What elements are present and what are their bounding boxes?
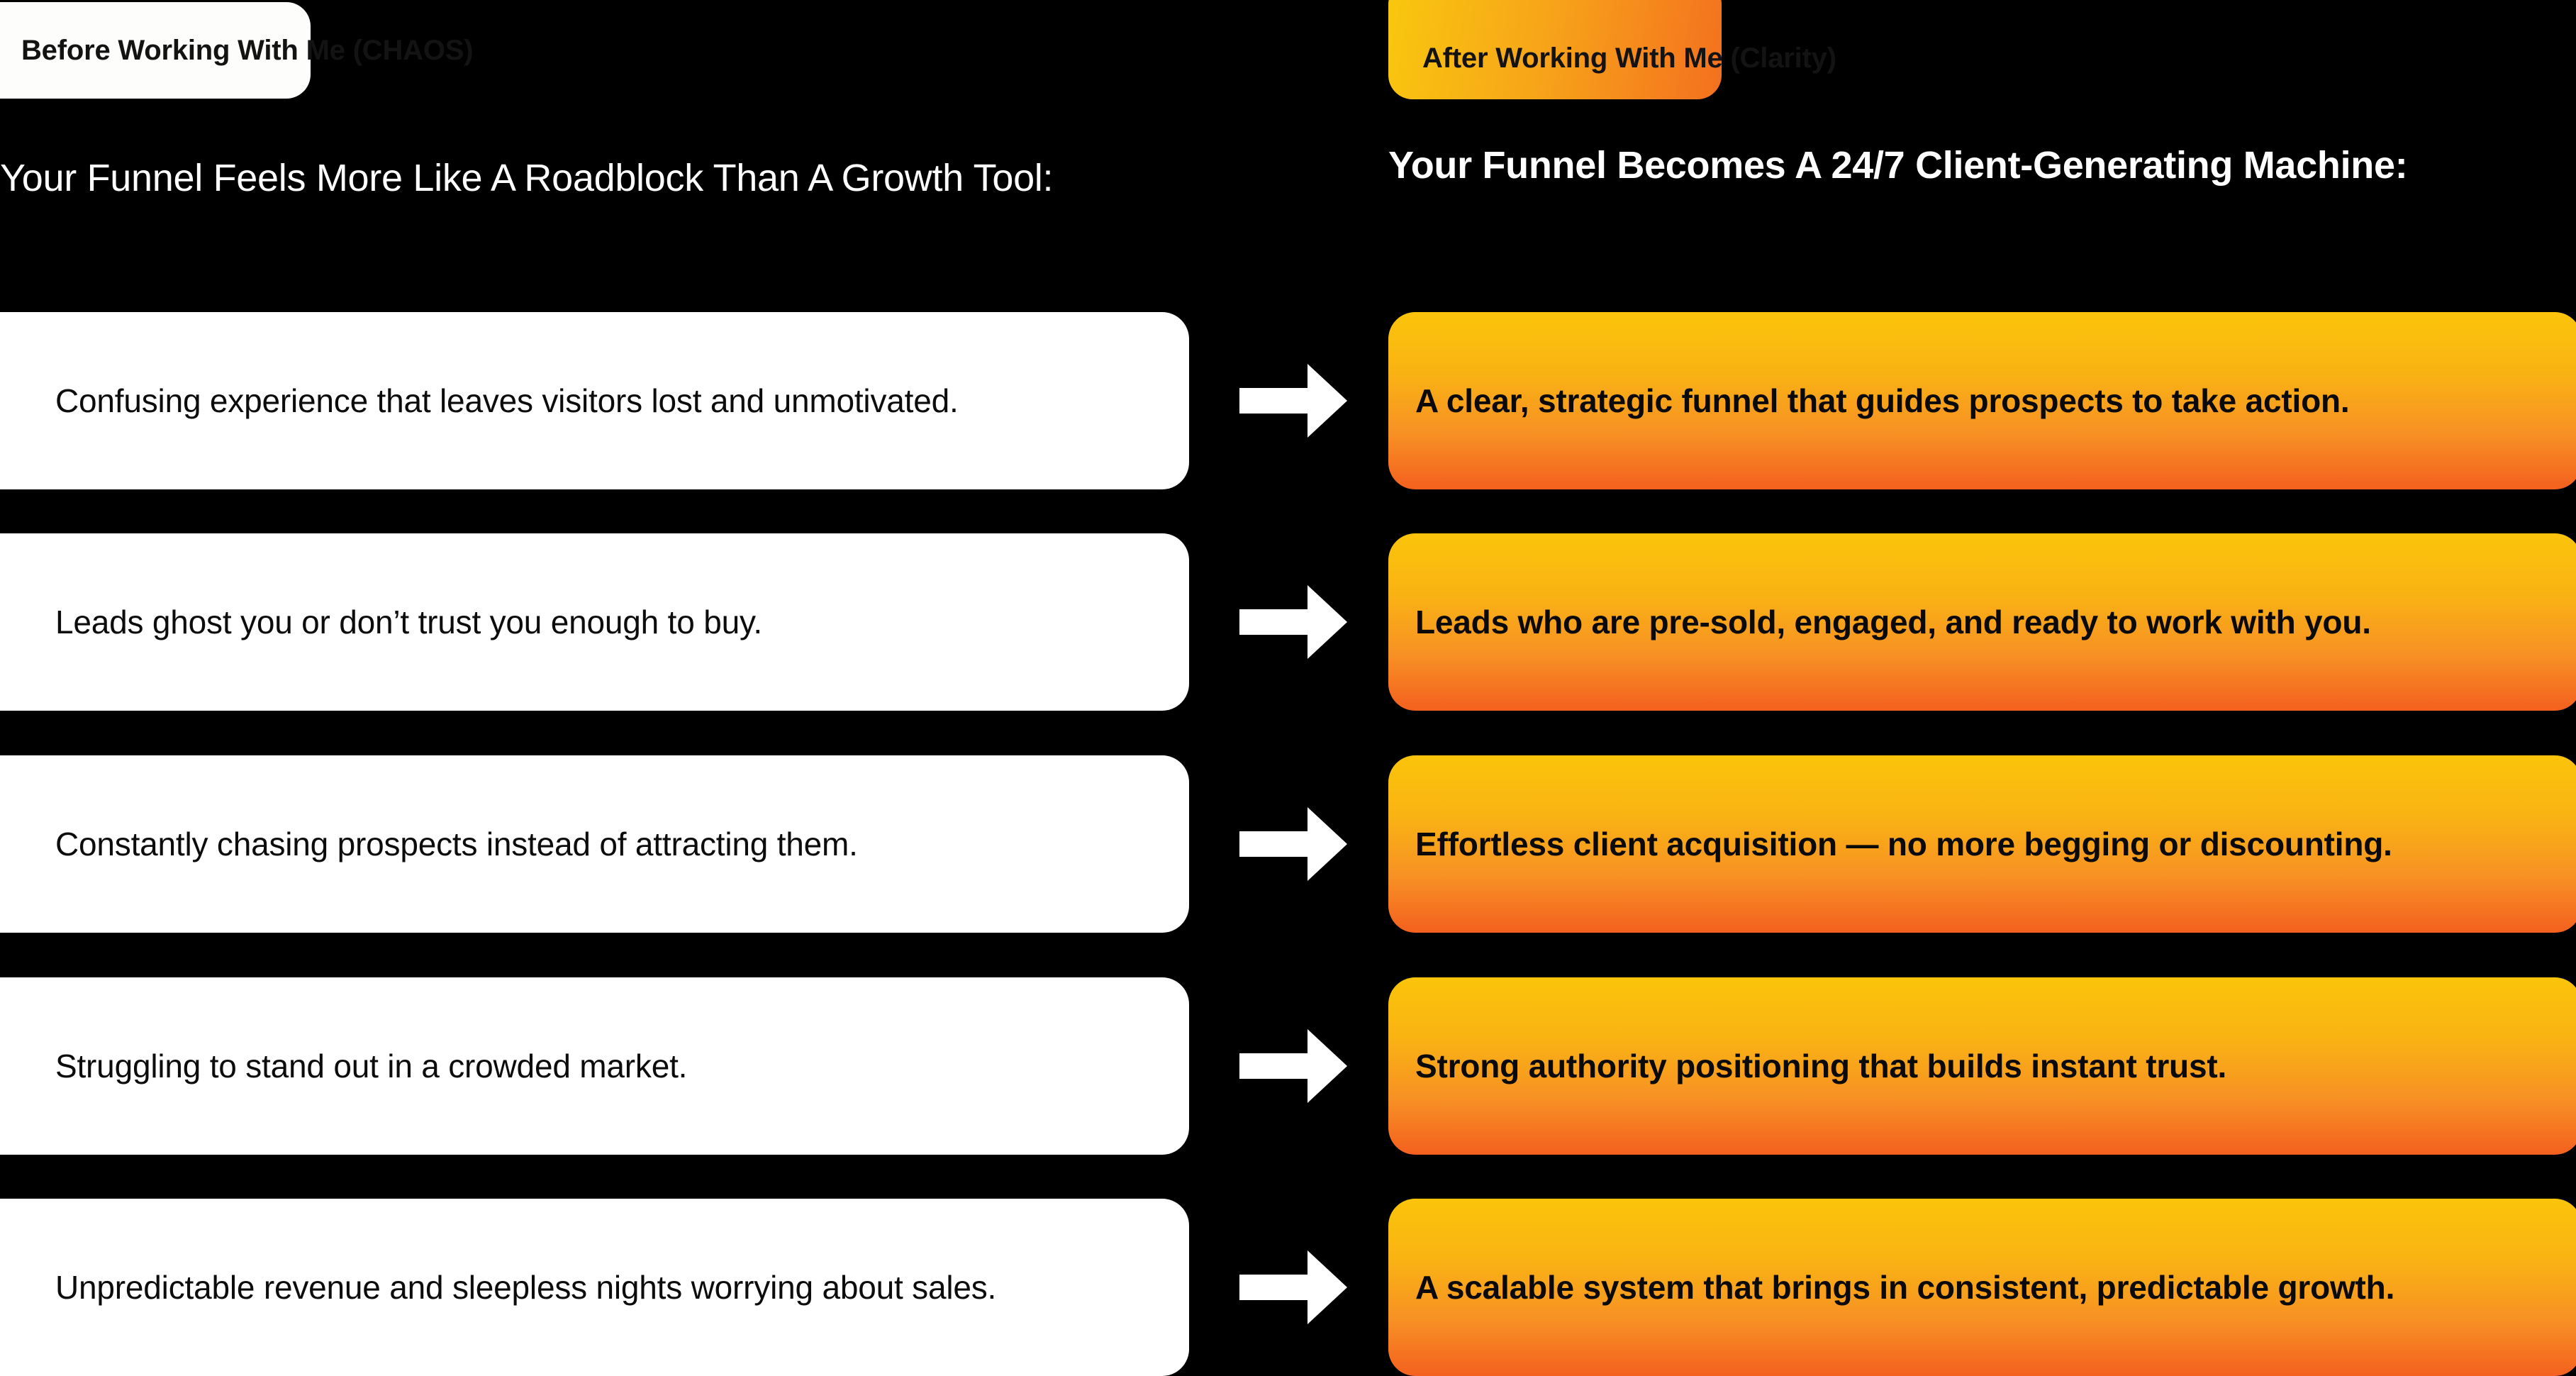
before-column-badge: Before Working With Me (CHAOS) bbox=[0, 2, 311, 99]
before-item-card: Unpredictable revenue and sleepless nigh… bbox=[0, 1199, 1189, 1376]
before-item-card: Constantly chasing prospects instead of … bbox=[0, 755, 1189, 933]
before-column-heading: Your Funnel Feels More Like A Roadblock … bbox=[0, 153, 1177, 203]
before-item-card: Confusing experience that leaves visitor… bbox=[0, 312, 1189, 489]
after-item-text: A clear, strategic funnel that guides pr… bbox=[1415, 377, 2349, 424]
after-column-badge: After Working With Me (Clarity) bbox=[1388, 0, 1722, 99]
before-item-card: Struggling to stand out in a crowded mar… bbox=[0, 977, 1189, 1155]
before-item-text: Constantly chasing prospects instead of … bbox=[55, 821, 858, 867]
arrow-right-icon bbox=[1239, 533, 1347, 711]
after-item-text: Leads who are pre-sold, engaged, and rea… bbox=[1415, 599, 2371, 645]
arrow-right-icon bbox=[1239, 755, 1347, 933]
after-column-heading: Your Funnel Becomes A 24/7 Client-Genera… bbox=[1388, 140, 2537, 190]
after-item-text: Strong authority positioning that builds… bbox=[1415, 1043, 2226, 1089]
after-column-badge-label: After Working With Me (Clarity) bbox=[1422, 44, 1836, 72]
arrow-right-icon bbox=[1239, 312, 1347, 489]
after-item-text: A scalable system that brings in consist… bbox=[1415, 1264, 2394, 1311]
before-item-text: Unpredictable revenue and sleepless nigh… bbox=[55, 1264, 996, 1311]
after-item-card: A clear, strategic funnel that guides pr… bbox=[1388, 312, 2576, 489]
after-item-card: Effortless client acquisition — no more … bbox=[1388, 755, 2576, 933]
comparison-infographic: Before Working With Me (CHAOS) After Wor… bbox=[0, 0, 2576, 1375]
after-item-text: Effortless client acquisition — no more … bbox=[1415, 821, 2392, 867]
before-item-card: Leads ghost you or don’t trust you enoug… bbox=[0, 533, 1189, 711]
after-item-card: Strong authority positioning that builds… bbox=[1388, 977, 2576, 1155]
arrow-right-icon bbox=[1239, 1199, 1347, 1376]
after-item-card: A scalable system that brings in consist… bbox=[1388, 1199, 2576, 1376]
before-item-text: Struggling to stand out in a crowded mar… bbox=[55, 1043, 687, 1089]
arrow-right-icon bbox=[1239, 977, 1347, 1155]
before-item-text: Confusing experience that leaves visitor… bbox=[55, 377, 959, 424]
after-item-card: Leads who are pre-sold, engaged, and rea… bbox=[1388, 533, 2576, 711]
before-item-text: Leads ghost you or don’t trust you enoug… bbox=[55, 599, 762, 645]
before-column-badge-label: Before Working With Me (CHAOS) bbox=[21, 36, 473, 65]
